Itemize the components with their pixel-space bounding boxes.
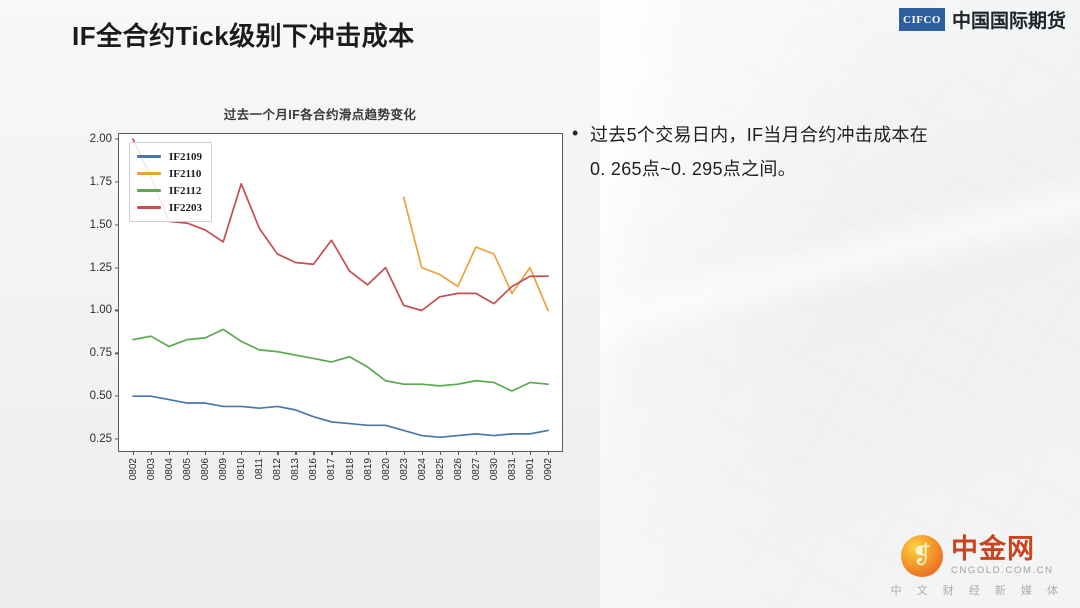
x-axis-tick-mark xyxy=(295,451,296,455)
x-axis-tick-label: 0811 xyxy=(254,458,265,480)
x-axis-tick-label: 0820 xyxy=(381,458,392,480)
y-axis-tick-label: 2.00 xyxy=(90,133,112,145)
watermark-words: 中金网 CNGOLD.COM.CN xyxy=(951,536,1054,576)
watermark-name: 中金网 xyxy=(951,536,1054,564)
x-axis-tick-label: 0901 xyxy=(525,458,536,480)
x-axis-tick-mark xyxy=(494,451,495,455)
x-axis-tick-label: 0830 xyxy=(489,458,500,480)
y-axis-tick-mark xyxy=(115,310,119,311)
x-axis-tick-mark xyxy=(331,451,332,455)
watermark: ❡ 中金网 CNGOLD.COM.CN 中 文 财 经 新 媒 体 xyxy=(891,535,1064,598)
x-axis-tick-label: 0902 xyxy=(543,458,554,480)
x-axis-tick-mark xyxy=(404,451,405,455)
x-axis-tick-label: 0818 xyxy=(345,458,356,480)
legend-item-IF2110[interactable]: IF2110 xyxy=(137,165,202,182)
y-axis-tick-mark xyxy=(115,267,119,268)
x-axis-tick-mark xyxy=(241,451,242,455)
y-axis-tick-label: 0.25 xyxy=(90,433,112,445)
x-axis-tick-mark xyxy=(548,451,549,455)
x-axis-tick-mark xyxy=(458,451,459,455)
x-axis-tick-mark xyxy=(151,451,152,455)
legend-color-swatch xyxy=(137,172,161,174)
x-axis-tick-label: 0813 xyxy=(290,458,301,480)
x-axis-tick-label: 0812 xyxy=(272,458,283,480)
x-axis-tick-mark xyxy=(440,451,441,455)
legend-color-swatch xyxy=(137,189,161,191)
x-axis-tick-mark xyxy=(368,451,369,455)
x-axis-tick-mark xyxy=(530,451,531,455)
x-axis-tick-label: 0825 xyxy=(435,458,446,480)
bullet-block: • 过去5个交易日内，IF当月合约冲击成本在 0. 265点~0. 295点之间… xyxy=(572,118,1052,186)
y-axis-tick-mark xyxy=(115,396,119,397)
x-axis-tick-mark xyxy=(205,451,206,455)
x-axis-tick-label: 0823 xyxy=(399,458,410,480)
legend-label: IF2203 xyxy=(169,202,202,214)
watermark-url: CNGOLD.COM.CN xyxy=(951,565,1054,576)
bullet-item: • 过去5个交易日内，IF当月合约冲击成本在 xyxy=(572,118,1052,152)
x-axis-tick-label: 0819 xyxy=(363,458,374,480)
plot-area: IF2109IF2110IF2112IF2203 2.001.751.501.2… xyxy=(118,133,563,452)
x-axis-tick-label: 0804 xyxy=(164,458,175,480)
x-axis-tick-label: 0805 xyxy=(182,458,193,480)
x-axis-tick-mark xyxy=(277,451,278,455)
y-axis-tick-mark xyxy=(115,353,119,354)
bullet-text-line-2: 0. 265点~0. 295点之间。 xyxy=(590,152,1052,186)
x-axis-tick-mark xyxy=(223,451,224,455)
x-axis-tick-mark xyxy=(187,451,188,455)
y-axis-tick-label: 0.75 xyxy=(90,347,112,359)
bullet-dot-icon: • xyxy=(572,118,590,148)
legend-color-swatch xyxy=(137,155,161,157)
watermark-top: ❡ 中金网 CNGOLD.COM.CN xyxy=(901,535,1054,577)
x-axis-tick-mark xyxy=(422,451,423,455)
page-title: IF全合约Tick级别下冲击成本 xyxy=(72,16,415,53)
x-axis-tick-label: 0816 xyxy=(308,458,319,480)
legend-item-IF2203[interactable]: IF2203 xyxy=(137,199,202,216)
x-axis-tick-mark xyxy=(386,451,387,455)
bullet-text-line-1: 过去5个交易日内，IF当月合约冲击成本在 xyxy=(590,118,928,152)
y-axis-tick-mark xyxy=(115,438,119,439)
x-axis-tick-mark xyxy=(512,451,513,455)
y-axis-tick-label: 1.75 xyxy=(90,176,112,188)
legend-color-swatch xyxy=(137,206,161,208)
brand-logo: CIFCO 中国国际期货 xyxy=(899,6,1066,33)
y-axis-tick-label: 1.00 xyxy=(90,304,112,316)
brand-name: 中国国际期货 xyxy=(952,6,1066,33)
y-axis-tick-label: 0.50 xyxy=(90,390,112,402)
x-axis-tick-mark xyxy=(350,451,351,455)
x-axis-tick-mark xyxy=(169,451,170,455)
y-axis-tick-mark xyxy=(115,224,119,225)
x-axis-tick-label: 0809 xyxy=(218,458,229,480)
x-axis-tick-mark xyxy=(133,451,134,455)
x-axis-tick-label: 0806 xyxy=(200,458,211,480)
chart-title: 过去一个月IF各合约滑点趋势变化 xyxy=(70,104,570,123)
chart-legend: IF2109IF2110IF2112IF2203 xyxy=(129,142,212,222)
x-axis-tick-mark xyxy=(313,451,314,455)
x-axis-tick-label: 0831 xyxy=(507,458,518,480)
x-axis-tick-label: 0817 xyxy=(326,458,337,480)
cifco-logo-icon: CIFCO xyxy=(899,8,945,31)
legend-label: IF2112 xyxy=(169,185,201,197)
cngold-orb-icon: ❡ xyxy=(901,535,943,577)
x-axis-tick-mark xyxy=(259,451,260,455)
legend-item-IF2109[interactable]: IF2109 xyxy=(137,148,202,165)
series-line-IF2112 xyxy=(133,329,548,391)
watermark-tagline: 中 文 财 经 新 媒 体 xyxy=(891,582,1064,598)
series-line-IF2109 xyxy=(133,396,548,437)
y-axis-tick-mark xyxy=(115,181,119,182)
x-axis-tick-label: 0824 xyxy=(417,458,428,480)
y-axis-tick-label: 1.50 xyxy=(90,219,112,231)
legend-label: IF2110 xyxy=(169,168,201,180)
x-axis-tick-label: 0802 xyxy=(128,458,139,480)
x-axis-tick-label: 0803 xyxy=(146,458,157,480)
legend-item-IF2112[interactable]: IF2112 xyxy=(137,182,202,199)
x-axis-tick-label: 0826 xyxy=(453,458,464,480)
x-axis-tick-label: 0827 xyxy=(471,458,482,480)
legend-label: IF2109 xyxy=(169,151,202,163)
chart-card: 过去一个月IF各合约滑点趋势变化 IF2109IF2110IF2112IF220… xyxy=(70,104,570,494)
y-axis-tick-mark xyxy=(115,139,119,140)
x-axis-tick-label: 0810 xyxy=(236,458,247,480)
x-axis-tick-mark xyxy=(476,451,477,455)
y-axis-tick-label: 1.25 xyxy=(90,262,112,274)
